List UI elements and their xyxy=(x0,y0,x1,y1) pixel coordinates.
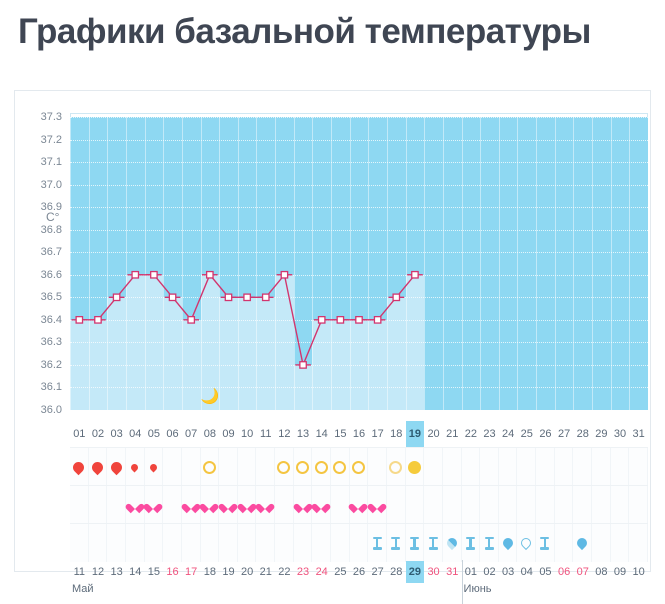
bleeding-cell-23[interactable] xyxy=(480,448,499,486)
heart-icon xyxy=(241,500,253,511)
bleeding-cell-17[interactable] xyxy=(368,448,387,486)
day-cell-07[interactable]: 07 xyxy=(182,421,201,447)
y-axis-tick: 36.9 xyxy=(41,201,62,213)
bottom-date-cell-21[interactable]: 21 xyxy=(256,561,275,583)
mucus-bar-stem xyxy=(544,539,546,548)
day-cell-02[interactable]: 02 xyxy=(89,421,108,447)
bottom-date-cell-14[interactable]: 14 xyxy=(126,561,145,583)
bottom-date-cell-06[interactable]: 06 xyxy=(555,561,574,583)
bottom-date-cell-08[interactable]: 08 xyxy=(592,561,611,583)
mucus-drop-icon xyxy=(575,536,589,550)
intimacy-cell-10[interactable] xyxy=(238,486,257,524)
moon-icon: 🌙 xyxy=(200,387,219,405)
bottom-date-cell-22[interactable]: 22 xyxy=(275,561,294,583)
bleeding-cell-21[interactable] xyxy=(443,448,462,486)
mucus-bar-stem xyxy=(395,539,397,548)
mucus-bar-stem xyxy=(413,539,415,548)
heart-icon xyxy=(185,500,197,511)
y-axis: 37.337.237.137.036.936.836.736.636.536.4… xyxy=(15,91,70,421)
bleeding-cell-25[interactable] xyxy=(517,448,536,486)
y-axis-tick: 36.4 xyxy=(41,314,62,326)
blood-drop-icon xyxy=(71,459,87,475)
month-separator xyxy=(462,560,463,604)
day-cell-22[interactable]: 22 xyxy=(462,421,481,447)
bottom-date-cell-30[interactable]: 30 xyxy=(424,561,443,583)
bleeding-cell-30[interactable] xyxy=(611,448,630,486)
mucus-cell-08[interactable] xyxy=(201,524,220,562)
bottom-date-cell-17[interactable]: 17 xyxy=(182,561,201,583)
intimacy-cell-08[interactable] xyxy=(201,486,220,524)
bleeding-cell-08[interactable] xyxy=(201,448,220,486)
mucus-cell-25[interactable] xyxy=(517,524,536,562)
mucus-cell-14[interactable] xyxy=(312,524,331,562)
day-cell-10[interactable]: 10 xyxy=(238,421,257,447)
intimacy-cell-19[interactable] xyxy=(406,486,425,524)
y-axis-tick: 36.6 xyxy=(41,269,62,281)
intimacy-cell-28[interactable] xyxy=(573,486,592,524)
day-cell-28[interactable]: 28 xyxy=(573,421,592,447)
day-cell-29[interactable]: 29 xyxy=(592,421,611,447)
bottom-date-cell-25[interactable]: 25 xyxy=(331,561,350,583)
day-cell-20[interactable]: 20 xyxy=(424,421,443,447)
intimacy-row[interactable] xyxy=(70,485,648,524)
day-cell-13[interactable]: 13 xyxy=(294,421,313,447)
intimacy-cell-17[interactable] xyxy=(368,486,387,524)
intimacy-cell-02[interactable] xyxy=(89,486,108,524)
mucus-cell-21[interactable] xyxy=(443,524,462,562)
heart-icon xyxy=(352,500,364,511)
intimacy-cell-31[interactable] xyxy=(629,486,648,524)
bleeding-cell-19[interactable] xyxy=(406,448,425,486)
plot-area: C° 37.337.237.137.036.936.836.736.636.53… xyxy=(15,91,652,421)
day-cell-25[interactable]: 25 xyxy=(517,421,536,447)
bleeding-cell-26[interactable] xyxy=(536,448,555,486)
mucus-cell-03[interactable] xyxy=(107,524,126,562)
day-cell-26[interactable]: 26 xyxy=(536,421,555,447)
day-cell-14[interactable]: 14 xyxy=(312,421,331,447)
mucus-bar-icon xyxy=(410,537,419,550)
bleeding-cell-10[interactable] xyxy=(238,448,257,486)
mucus-bar-stem xyxy=(469,539,471,548)
bleeding-cell-09[interactable] xyxy=(219,448,238,486)
bottom-date-cell-02[interactable]: 02 xyxy=(480,561,499,583)
day-cell-23[interactable]: 23 xyxy=(480,421,499,447)
bottom-date-cell-27[interactable]: 27 xyxy=(368,561,387,583)
day-cell-21[interactable]: 21 xyxy=(443,421,462,447)
ovulation-circle-icon xyxy=(277,461,290,474)
day-cell-15[interactable]: 15 xyxy=(331,421,350,447)
page-title: Графики базальной температуры xyxy=(0,0,665,54)
mucus-cell-26[interactable] xyxy=(536,524,555,562)
mucus-row[interactable] xyxy=(70,523,648,562)
ovulation-circle-icon xyxy=(315,461,328,474)
bottom-date-cell-10[interactable]: 10 xyxy=(629,561,648,583)
bottom-date-cell-03[interactable]: 03 xyxy=(499,561,518,583)
y-axis-tick: 36.1 xyxy=(41,381,62,393)
intimacy-cell-20[interactable] xyxy=(424,486,443,524)
heart-icon xyxy=(315,500,327,511)
ovulation-circle-icon xyxy=(203,461,216,474)
bottom-date-strip[interactable]: 1112131415161718192021222324252627282930… xyxy=(70,561,648,585)
bleeding-cell-15[interactable] xyxy=(331,448,350,486)
y-axis-tick: 36.3 xyxy=(41,336,62,348)
intimacy-cell-12[interactable] xyxy=(275,486,294,524)
mucus-bar-stem xyxy=(376,539,378,548)
bottom-date-cell-05[interactable]: 05 xyxy=(536,561,555,583)
mucus-cell-19[interactable] xyxy=(406,524,425,562)
bottom-date-cell-18[interactable]: 18 xyxy=(201,561,220,583)
intimacy-cell-14[interactable] xyxy=(312,486,331,524)
bottom-date-cell-13[interactable]: 13 xyxy=(107,561,126,583)
bleeding-cell-27[interactable] xyxy=(555,448,574,486)
bleeding-cell-16[interactable] xyxy=(350,448,369,486)
bottom-date-cell-28[interactable]: 28 xyxy=(387,561,406,583)
mucus-bar-stem xyxy=(488,539,490,548)
y-axis-tick: 36.8 xyxy=(41,224,62,236)
bottom-date-cell-01[interactable]: 01 xyxy=(462,561,481,583)
bleeding-cell-12[interactable] xyxy=(275,448,294,486)
mucus-cell-30[interactable] xyxy=(611,524,630,562)
mucus-cell-20[interactable] xyxy=(424,524,443,562)
intimacy-cell-13[interactable] xyxy=(294,486,313,524)
mucus-cell-12[interactable] xyxy=(275,524,294,562)
intimacy-cell-05[interactable] xyxy=(145,486,164,524)
intimacy-cell-23[interactable] xyxy=(480,486,499,524)
intimacy-cell-21[interactable] xyxy=(443,486,462,524)
mucus-bar-icon xyxy=(429,537,438,550)
mucus-bar-icon xyxy=(485,537,494,550)
mucus-cell-01[interactable] xyxy=(70,524,89,562)
day-cell-17[interactable]: 17 xyxy=(368,421,387,447)
mucus-drop-half-icon xyxy=(445,536,459,550)
intimacy-cell-26[interactable] xyxy=(536,486,555,524)
day-cell-31[interactable]: 31 xyxy=(629,421,648,447)
y-axis-tick: 36.0 xyxy=(41,404,62,416)
mucus-cell-05[interactable] xyxy=(145,524,164,562)
heart-icon xyxy=(371,500,383,511)
blood-drop-icon xyxy=(90,459,106,475)
intimacy-cell-01[interactable] xyxy=(70,486,89,524)
bleeding-cell-20[interactable] xyxy=(424,448,443,486)
bottom-date-cell-29[interactable]: 29 xyxy=(406,561,425,583)
mucus-cell-31[interactable] xyxy=(629,524,648,562)
blood-drop-icon xyxy=(130,462,140,472)
mucus-bar-icon xyxy=(540,537,549,550)
day-cell-24[interactable]: 24 xyxy=(499,421,518,447)
y-axis-tick: 37.3 xyxy=(41,111,62,123)
bottom-date-cell-26[interactable]: 26 xyxy=(350,561,369,583)
y-axis-tick: 36.2 xyxy=(41,359,62,371)
month-label: Июнь xyxy=(464,583,492,595)
mucus-cell-11[interactable] xyxy=(256,524,275,562)
bleeding-cell-22[interactable] xyxy=(462,448,481,486)
y-axis-tick: 36.5 xyxy=(41,291,62,303)
bleeding-cell-29[interactable] xyxy=(592,448,611,486)
y-axis-tick: 37.0 xyxy=(41,179,62,191)
day-cell-04[interactable]: 04 xyxy=(126,421,145,447)
heart-icon xyxy=(129,500,141,511)
heart-icon xyxy=(222,500,234,511)
day-number-strip[interactable]: 0102030405060708091011121314151617181920… xyxy=(70,421,648,447)
bottom-date-cell-15[interactable]: 15 xyxy=(145,561,164,583)
y-axis-tick: 37.2 xyxy=(41,134,62,146)
intimacy-cell-15[interactable] xyxy=(331,486,350,524)
bleeding-cell-05[interactable] xyxy=(145,448,164,486)
mucus-cell-27[interactable] xyxy=(555,524,574,562)
bottom-date-cell-11[interactable]: 11 xyxy=(70,561,89,583)
bleeding-cell-13[interactable] xyxy=(294,448,313,486)
mucus-bar-icon xyxy=(391,537,400,550)
ovulation-circle-icon xyxy=(352,461,365,474)
bottom-date-cell-04[interactable]: 04 xyxy=(517,561,536,583)
mucus-bar-icon xyxy=(373,537,382,550)
mucus-cell-02[interactable] xyxy=(89,524,108,562)
mucus-cell-13[interactable] xyxy=(294,524,313,562)
day-cell-30[interactable]: 30 xyxy=(611,421,630,447)
bottom-date-cell-24[interactable]: 24 xyxy=(312,561,331,583)
day-cell-11[interactable]: 11 xyxy=(256,421,275,447)
mucus-bar-stem xyxy=(432,539,434,548)
bottom-date-cell-19[interactable]: 19 xyxy=(219,561,238,583)
day-cell-16[interactable]: 16 xyxy=(350,421,369,447)
day-cell-19[interactable]: 19 xyxy=(406,421,425,447)
intimacy-cell-18[interactable] xyxy=(387,486,406,524)
intimacy-cell-27[interactable] xyxy=(555,486,574,524)
mucus-cell-23[interactable] xyxy=(480,524,499,562)
day-cell-09[interactable]: 09 xyxy=(219,421,238,447)
mucus-cell-17[interactable] xyxy=(368,524,387,562)
intimacy-cell-25[interactable] xyxy=(517,486,536,524)
mucus-cell-15[interactable] xyxy=(331,524,350,562)
intimacy-cell-11[interactable] xyxy=(256,486,275,524)
heart-icon xyxy=(203,500,215,511)
intimacy-cell-07[interactable] xyxy=(182,486,201,524)
bleeding-cell-02[interactable] xyxy=(89,448,108,486)
intimacy-cell-16[interactable] xyxy=(350,486,369,524)
bleeding-row[interactable] xyxy=(70,447,648,486)
day-cell-27[interactable]: 27 xyxy=(555,421,574,447)
intimacy-cell-22[interactable] xyxy=(462,486,481,524)
heart-icon xyxy=(147,500,159,511)
month-label: Май xyxy=(72,583,94,595)
day-cell-05[interactable]: 05 xyxy=(145,421,164,447)
intimacy-cell-24[interactable] xyxy=(499,486,518,524)
mucus-cell-04[interactable] xyxy=(126,524,145,562)
bottom-date-cell-20[interactable]: 20 xyxy=(238,561,257,583)
intimacy-cell-06[interactable] xyxy=(163,486,182,524)
bottom-date-cell-31[interactable]: 31 xyxy=(443,561,462,583)
intimacy-cell-03[interactable] xyxy=(107,486,126,524)
mucus-bar-icon xyxy=(466,537,475,550)
ovulation-circle-icon xyxy=(333,461,346,474)
bottom-date-cell-23[interactable]: 23 xyxy=(294,561,313,583)
y-axis-tick: 37.1 xyxy=(41,156,62,168)
bleeding-cell-24[interactable] xyxy=(499,448,518,486)
intimacy-cell-04[interactable] xyxy=(126,486,145,524)
mucus-cell-16[interactable] xyxy=(350,524,369,562)
bottom-date-cell-07[interactable]: 07 xyxy=(573,561,592,583)
mucus-cell-09[interactable] xyxy=(219,524,238,562)
bleeding-cell-04[interactable] xyxy=(126,448,145,486)
day-cell-08[interactable]: 08 xyxy=(201,421,220,447)
heart-icon xyxy=(297,500,309,511)
bottom-date-cell-09[interactable]: 09 xyxy=(611,561,630,583)
ovulation-circle-icon xyxy=(296,461,309,474)
bleeding-cell-01[interactable] xyxy=(70,448,89,486)
mucus-cell-18[interactable] xyxy=(387,524,406,562)
mucus-drop-icon xyxy=(501,536,515,550)
day-cell-12[interactable]: 12 xyxy=(275,421,294,447)
mucus-cell-10[interactable] xyxy=(238,524,257,562)
chart-card: C° 37.337.237.137.036.936.836.736.636.53… xyxy=(14,90,651,572)
bottom-date-cell-16[interactable]: 16 xyxy=(163,561,182,583)
bleeding-cell-07[interactable] xyxy=(182,448,201,486)
blood-drop-icon xyxy=(148,462,158,472)
temperature-line xyxy=(70,117,648,410)
plot-canvas: 🌙 xyxy=(70,117,648,410)
mucus-cell-06[interactable] xyxy=(163,524,182,562)
bottom-date-cell-12[interactable]: 12 xyxy=(89,561,108,583)
heart-icon xyxy=(259,500,271,511)
ovulation-circle-filled-icon xyxy=(408,461,421,474)
day-cell-06[interactable]: 06 xyxy=(163,421,182,447)
day-cell-03[interactable]: 03 xyxy=(107,421,126,447)
ovulation-circle-icon xyxy=(389,461,402,474)
y-axis-tick: 36.7 xyxy=(41,246,62,258)
intimacy-cell-29[interactable] xyxy=(592,486,611,524)
blood-drop-icon xyxy=(108,459,124,475)
bleeding-cell-18[interactable] xyxy=(387,448,406,486)
day-cell-18[interactable]: 18 xyxy=(387,421,406,447)
mucus-cell-22[interactable] xyxy=(462,524,481,562)
mucus-cell-07[interactable] xyxy=(182,524,201,562)
intimacy-cell-09[interactable] xyxy=(219,486,238,524)
bleeding-cell-14[interactable] xyxy=(312,448,331,486)
mucus-cell-24[interactable] xyxy=(499,524,518,562)
mucus-cell-29[interactable] xyxy=(592,524,611,562)
bleeding-cell-03[interactable] xyxy=(107,448,126,486)
intimacy-cell-30[interactable] xyxy=(611,486,630,524)
bleeding-cell-11[interactable] xyxy=(256,448,275,486)
mucus-drop-outline-icon xyxy=(519,536,533,550)
day-cell-01[interactable]: 01 xyxy=(70,421,89,447)
mucus-cell-28[interactable] xyxy=(573,524,592,562)
bleeding-cell-28[interactable] xyxy=(573,448,592,486)
bleeding-cell-31[interactable] xyxy=(629,448,648,486)
bleeding-cell-06[interactable] xyxy=(163,448,182,486)
